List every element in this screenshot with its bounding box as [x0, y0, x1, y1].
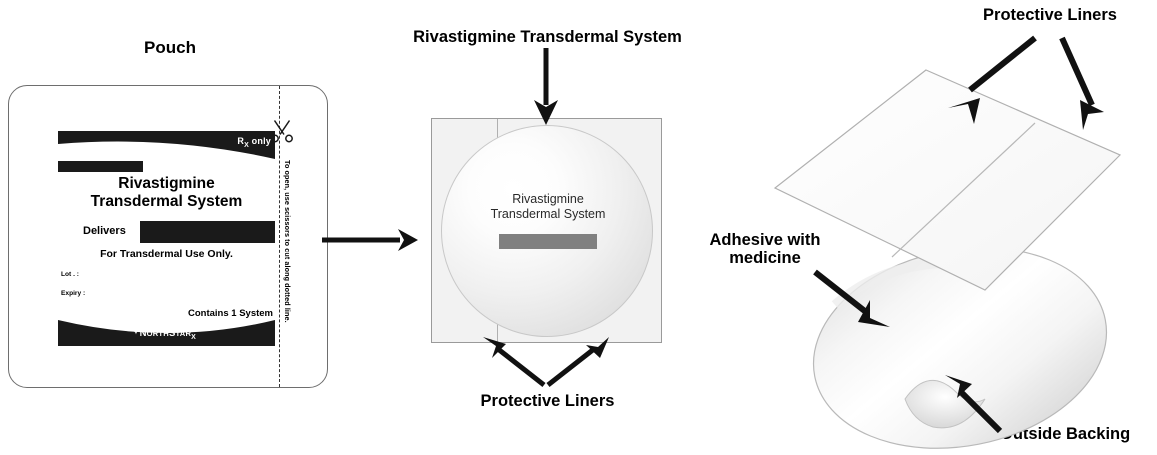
vector-graphics-layer — [0, 0, 1157, 455]
protective-liner-sheets-3d — [775, 70, 1120, 290]
middle-liner-arrow-left — [483, 337, 544, 385]
figure-canvas: Pouch To open, use scissors to cut along… — [0, 0, 1157, 455]
right-liner-arrow-right — [1062, 38, 1104, 130]
middle-liner-arrow-right — [548, 337, 609, 385]
transfer-arrow — [322, 229, 418, 251]
liner-sheet-outline — [775, 70, 1120, 290]
middle-top-arrow — [534, 48, 558, 125]
